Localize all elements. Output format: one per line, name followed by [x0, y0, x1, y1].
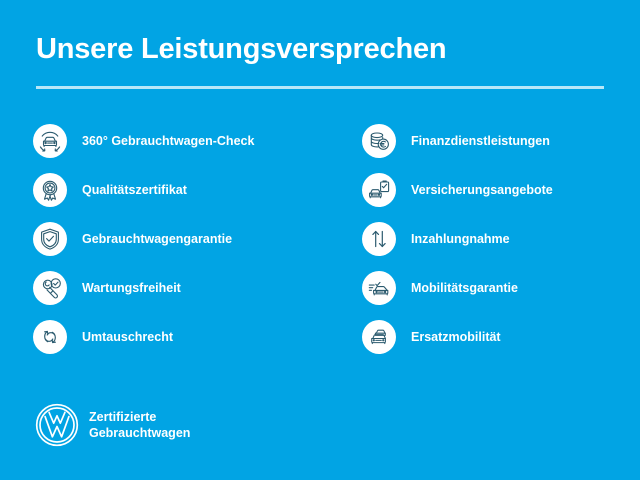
feature-column-left: 360° Gebrauchtwagen-Check Qualitätszerti… — [33, 124, 333, 369]
brand-line-2: Gebrauchtwagen — [89, 425, 190, 441]
brand-lockup: Zertifizierte Gebrauchtwagen — [34, 402, 190, 448]
list-item[interactable]: Ersatzmobilität — [362, 320, 637, 369]
feature-column-right: Finanzdienstleistungen — [362, 124, 637, 369]
exchange-arrows-icon — [33, 320, 67, 354]
list-item[interactable]: Finanzdienstleistungen — [362, 124, 637, 173]
page-title: Unsere Leistungsversprechen — [36, 32, 446, 66]
list-item[interactable]: Versicherungsangebote — [362, 173, 637, 222]
shield-check-icon — [33, 222, 67, 256]
list-item-label: Wartungsfreiheit — [82, 271, 181, 305]
brand-line-1: Zertifizierte — [89, 409, 190, 425]
volkswagen-logo-icon — [34, 402, 80, 448]
list-item-label: Umtauschrecht — [82, 320, 173, 354]
coins-euro-icon — [362, 124, 396, 158]
award-rosette-icon — [33, 173, 67, 207]
list-item-label: Inzahlungnahme — [411, 222, 510, 256]
list-item-label: Ersatzmobilität — [411, 320, 501, 354]
car-check-icon — [362, 271, 396, 305]
list-item[interactable]: Inzahlungnahme — [362, 222, 637, 271]
car-360-check-icon — [33, 124, 67, 158]
list-item-label: Qualitätszertifikat — [82, 173, 187, 207]
list-item-label: 360° Gebrauchtwagen-Check — [82, 124, 254, 158]
car-clipboard-icon — [362, 173, 396, 207]
arrows-up-down-icon — [362, 222, 396, 256]
list-item[interactable]: Wartungsfreiheit — [33, 271, 333, 320]
two-cars-icon — [362, 320, 396, 354]
list-item[interactable]: Gebrauchtwagengarantie — [33, 222, 333, 271]
title-divider — [36, 86, 604, 89]
list-item-label: Versicherungsangebote — [411, 173, 553, 207]
list-item-label: Mobilitätsgarantie — [411, 271, 518, 305]
list-item[interactable]: Qualitätszertifikat — [33, 173, 333, 222]
brand-text: Zertifizierte Gebrauchtwagen — [89, 409, 190, 441]
promise-poster: Unsere Leistungsversprechen — [0, 0, 640, 480]
list-item[interactable]: Umtauschrecht — [33, 320, 333, 369]
list-item[interactable]: 360° Gebrauchtwagen-Check — [33, 124, 333, 173]
list-item-label: Gebrauchtwagengarantie — [82, 222, 232, 256]
wrench-check-icon — [33, 271, 67, 305]
list-item[interactable]: Mobilitätsgarantie — [362, 271, 637, 320]
list-item-label: Finanzdienstleistungen — [411, 124, 550, 158]
